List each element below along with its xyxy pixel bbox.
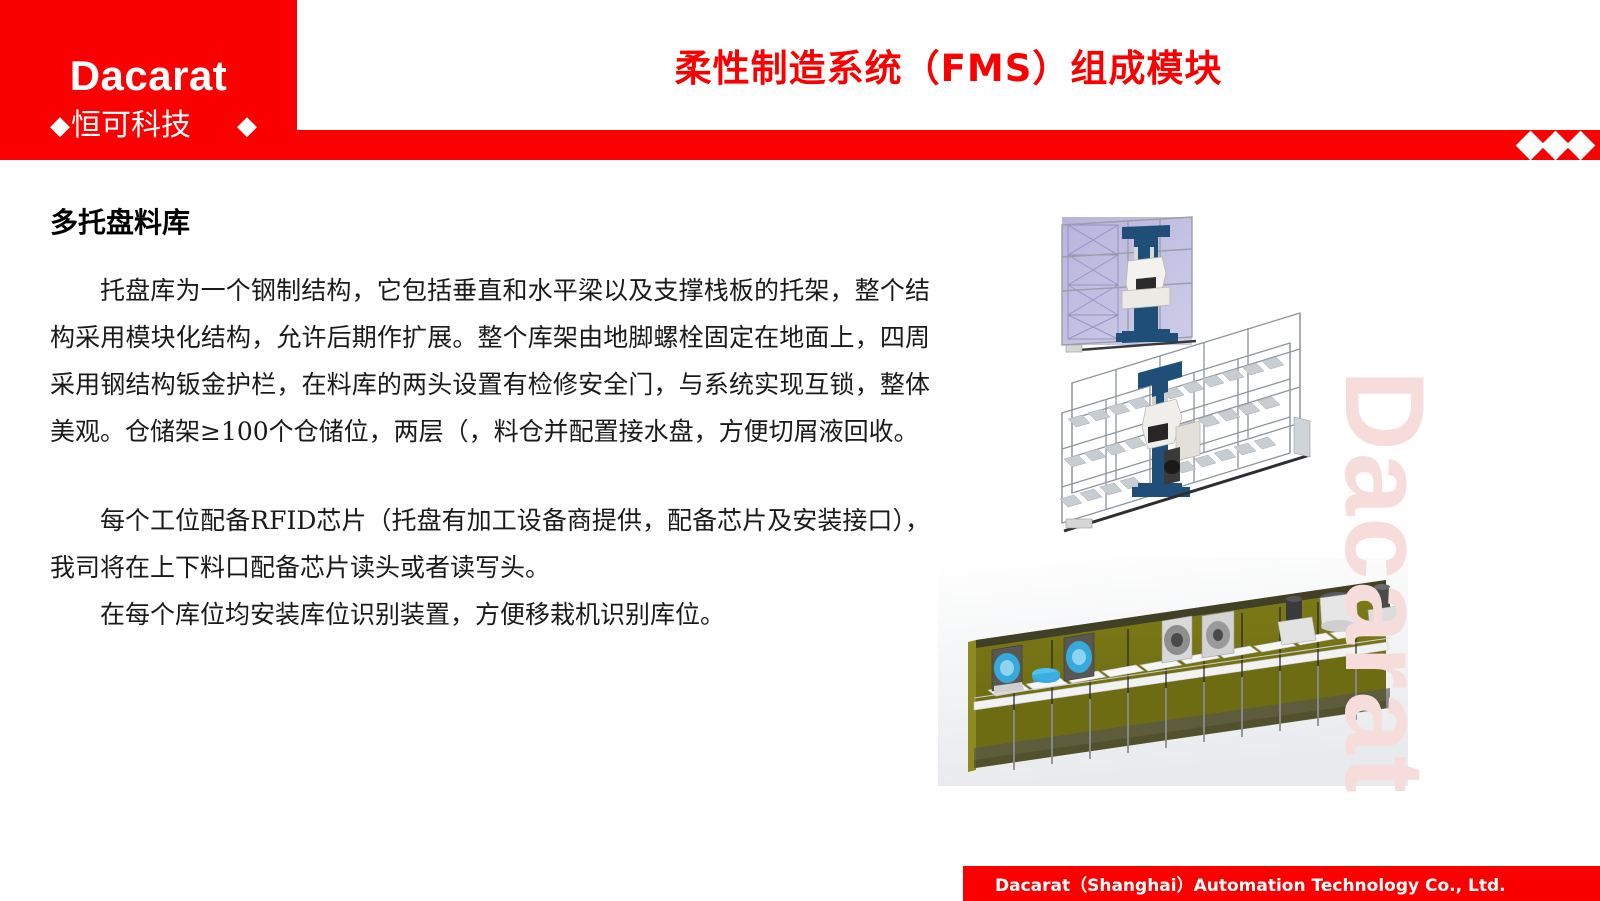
rack-inset-view xyxy=(1062,217,1196,352)
slide-title-panel: 柔性制造系统（FMS）组成模块 xyxy=(297,0,1600,130)
rack-main-view xyxy=(1060,313,1310,531)
diamond-icon-left: ◆ xyxy=(50,113,70,139)
footer-bar: Dacarat（Shanghai）Automation Technology C… xyxy=(963,866,1600,901)
section-heading: 多托盘料库 xyxy=(50,205,930,241)
brand-chinese-row: ◆ 恒可科技 ◆ xyxy=(0,104,297,148)
brand-name: Dacarat xyxy=(0,52,297,100)
gantry-crane xyxy=(1132,361,1200,497)
diamond-icon-right: ◆ xyxy=(237,113,257,139)
pallet-rack-3d-image xyxy=(1010,195,1330,535)
brand-logo-block[interactable]: Dacarat ◆ 恒可科技 ◆ xyxy=(0,0,297,160)
page-title: 柔性制造系统（FMS）组成模块 xyxy=(675,38,1223,92)
paragraph-rfid: 每个工位配备RFID芯片（托盘有加工设备商提供，配备芯片及安装接口），我司将在上… xyxy=(50,497,930,591)
slide-body-text: 多托盘料库 托盘库为一个钢制结构，它包括垂直和水平梁以及支撑栈板的托架，整个结构… xyxy=(50,205,930,638)
paragraph-slot-recognition: 在每个库位均安装库位识别装置，方便移栽机识别库位。 xyxy=(50,591,930,638)
brand-chinese-name: 恒可科技 xyxy=(71,109,191,143)
header-decor-diamonds xyxy=(1519,130,1592,160)
company-legal-name: Dacarat（Shanghai）Automation Technology C… xyxy=(963,871,1506,896)
shelf-with-parts-3d-image xyxy=(938,558,1408,786)
paragraph-pallet-store: 托盘库为一个钢制结构，它包括垂直和水平梁以及支撑栈板的托架，整个结构采用模块化结… xyxy=(50,267,930,455)
slide-header: Dacarat ◆ 恒可科技 ◆ 柔性制造系统（FMS）组成模块 xyxy=(0,0,1600,160)
decor-diamond-icon-3 xyxy=(1566,130,1596,160)
